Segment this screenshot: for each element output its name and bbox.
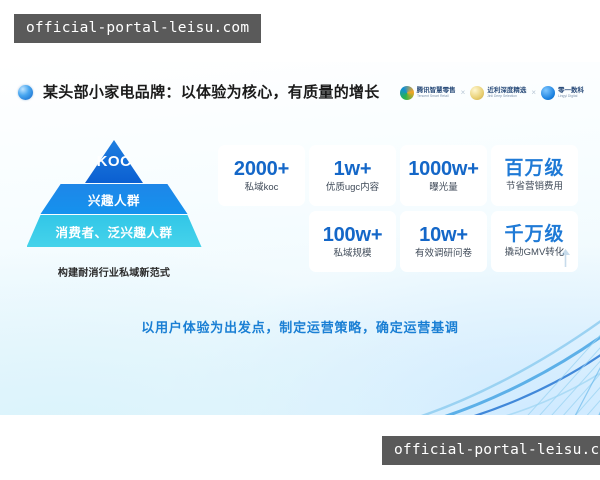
pyramid-tier-label: 兴趣人群 [88, 190, 140, 209]
partner-logo-name: 腾讯智慧零售 [417, 87, 456, 95]
pyramid-tier-interest: 兴趣人群 [27, 184, 202, 214]
pyramid-caption: 构建耐消行业私域新范式 [24, 264, 204, 279]
lingyi-logo-icon [541, 86, 555, 100]
blue-sphere-bullet-icon [18, 85, 33, 100]
stat-value: 100w+ [323, 225, 383, 245]
pyramid-tier-label: 消费者、泛兴趣人群 [55, 222, 172, 241]
stat-cell-empty [218, 211, 305, 272]
stat-value: 10w+ [419, 225, 468, 245]
partner-logo-subname: Jinli Deep Selection [487, 94, 524, 99]
partner-logo-subname: Lingyi Digital [558, 94, 583, 99]
stat-cell: 1000w+ 曝光量 [400, 145, 487, 206]
partner-logo-strip: 腾讯智慧零售 Tencent Smart Retail × 近利深度精选 Jin… [400, 82, 584, 104]
stats-grid: 2000+ 私域koc 1w+ 优质ugc内容 1000w+ 曝光量 百万级 节… [218, 145, 578, 272]
slide-header: 某头部小家电品牌：以体验为核心，有质量的增长 腾讯智慧零售 Tencent Sm… [18, 81, 584, 107]
stat-cell-highlight: 百万级 节省营销费用 [491, 145, 578, 206]
stat-value: 千万级 [504, 225, 564, 244]
stat-label: 私域规模 [333, 249, 371, 259]
audience-pyramid: KOC 兴趣人群 消费者、泛兴趣人群 构建耐消行业私域新范式 [24, 140, 204, 279]
partner-logo-subname: Tencent Smart Retail [417, 94, 454, 99]
partner-logo-jinli: 近利深度精选 Jinli Deep Selection [470, 86, 526, 100]
watermark-top: official-portal-leisu.com [14, 14, 261, 43]
gold-seal-logo-icon [470, 86, 484, 100]
stat-value: 1000w+ [408, 159, 479, 179]
slide-title: 某头部小家电品牌：以体验为核心，有质量的增长 [43, 81, 380, 105]
stat-cell: 100w+ 私域规模 [309, 211, 396, 272]
stat-label: 节省营销费用 [506, 182, 563, 192]
logo-separator: × [461, 89, 466, 97]
pyramid-tier-label: KOC [97, 153, 132, 170]
stat-value: 1w+ [334, 159, 372, 179]
partner-logo-name: 零一数科 [558, 87, 584, 95]
stat-cell: 2000+ 私域koc [218, 145, 305, 206]
stat-label: 优质ugc内容 [326, 183, 379, 193]
stat-value: 百万级 [504, 159, 564, 178]
stat-label: 私域koc [245, 183, 279, 193]
stat-cell: 1w+ 优质ugc内容 [309, 145, 396, 206]
partner-logo-tencent: 腾讯智慧零售 Tencent Smart Retail [400, 86, 456, 100]
pyramid-tier-koc: KOC [27, 140, 202, 183]
stat-cell-highlight: 千万级 撬动GMV转化 [491, 211, 578, 272]
stat-label: 有效调研问卷 [415, 249, 472, 259]
stat-label: 曝光量 [429, 183, 458, 193]
watermark-bottom: official-portal-leisu.com [382, 436, 600, 465]
stat-label: 撬动GMV转化 [505, 248, 565, 258]
stat-cell: 10w+ 有效调研问卷 [400, 211, 487, 272]
partner-logo-lingyi: 零一数科 Lingyi Digital [541, 86, 584, 100]
slide-tagline: 以用户体验为出发点，制定运营策略，确定运营基调 [0, 317, 600, 336]
stat-value: 2000+ [234, 159, 289, 179]
tencent-logo-icon [400, 86, 414, 100]
growth-arrow-icon [559, 248, 572, 268]
logo-separator: × [531, 89, 536, 97]
decorative-fan-rays [360, 285, 600, 415]
slide-canvas: 某头部小家电品牌：以体验为核心，有质量的增长 腾讯智慧零售 Tencent Sm… [0, 62, 600, 415]
pyramid-tier-consumers: 消费者、泛兴趣人群 [27, 215, 202, 247]
partner-logo-name: 近利深度精选 [487, 87, 526, 95]
